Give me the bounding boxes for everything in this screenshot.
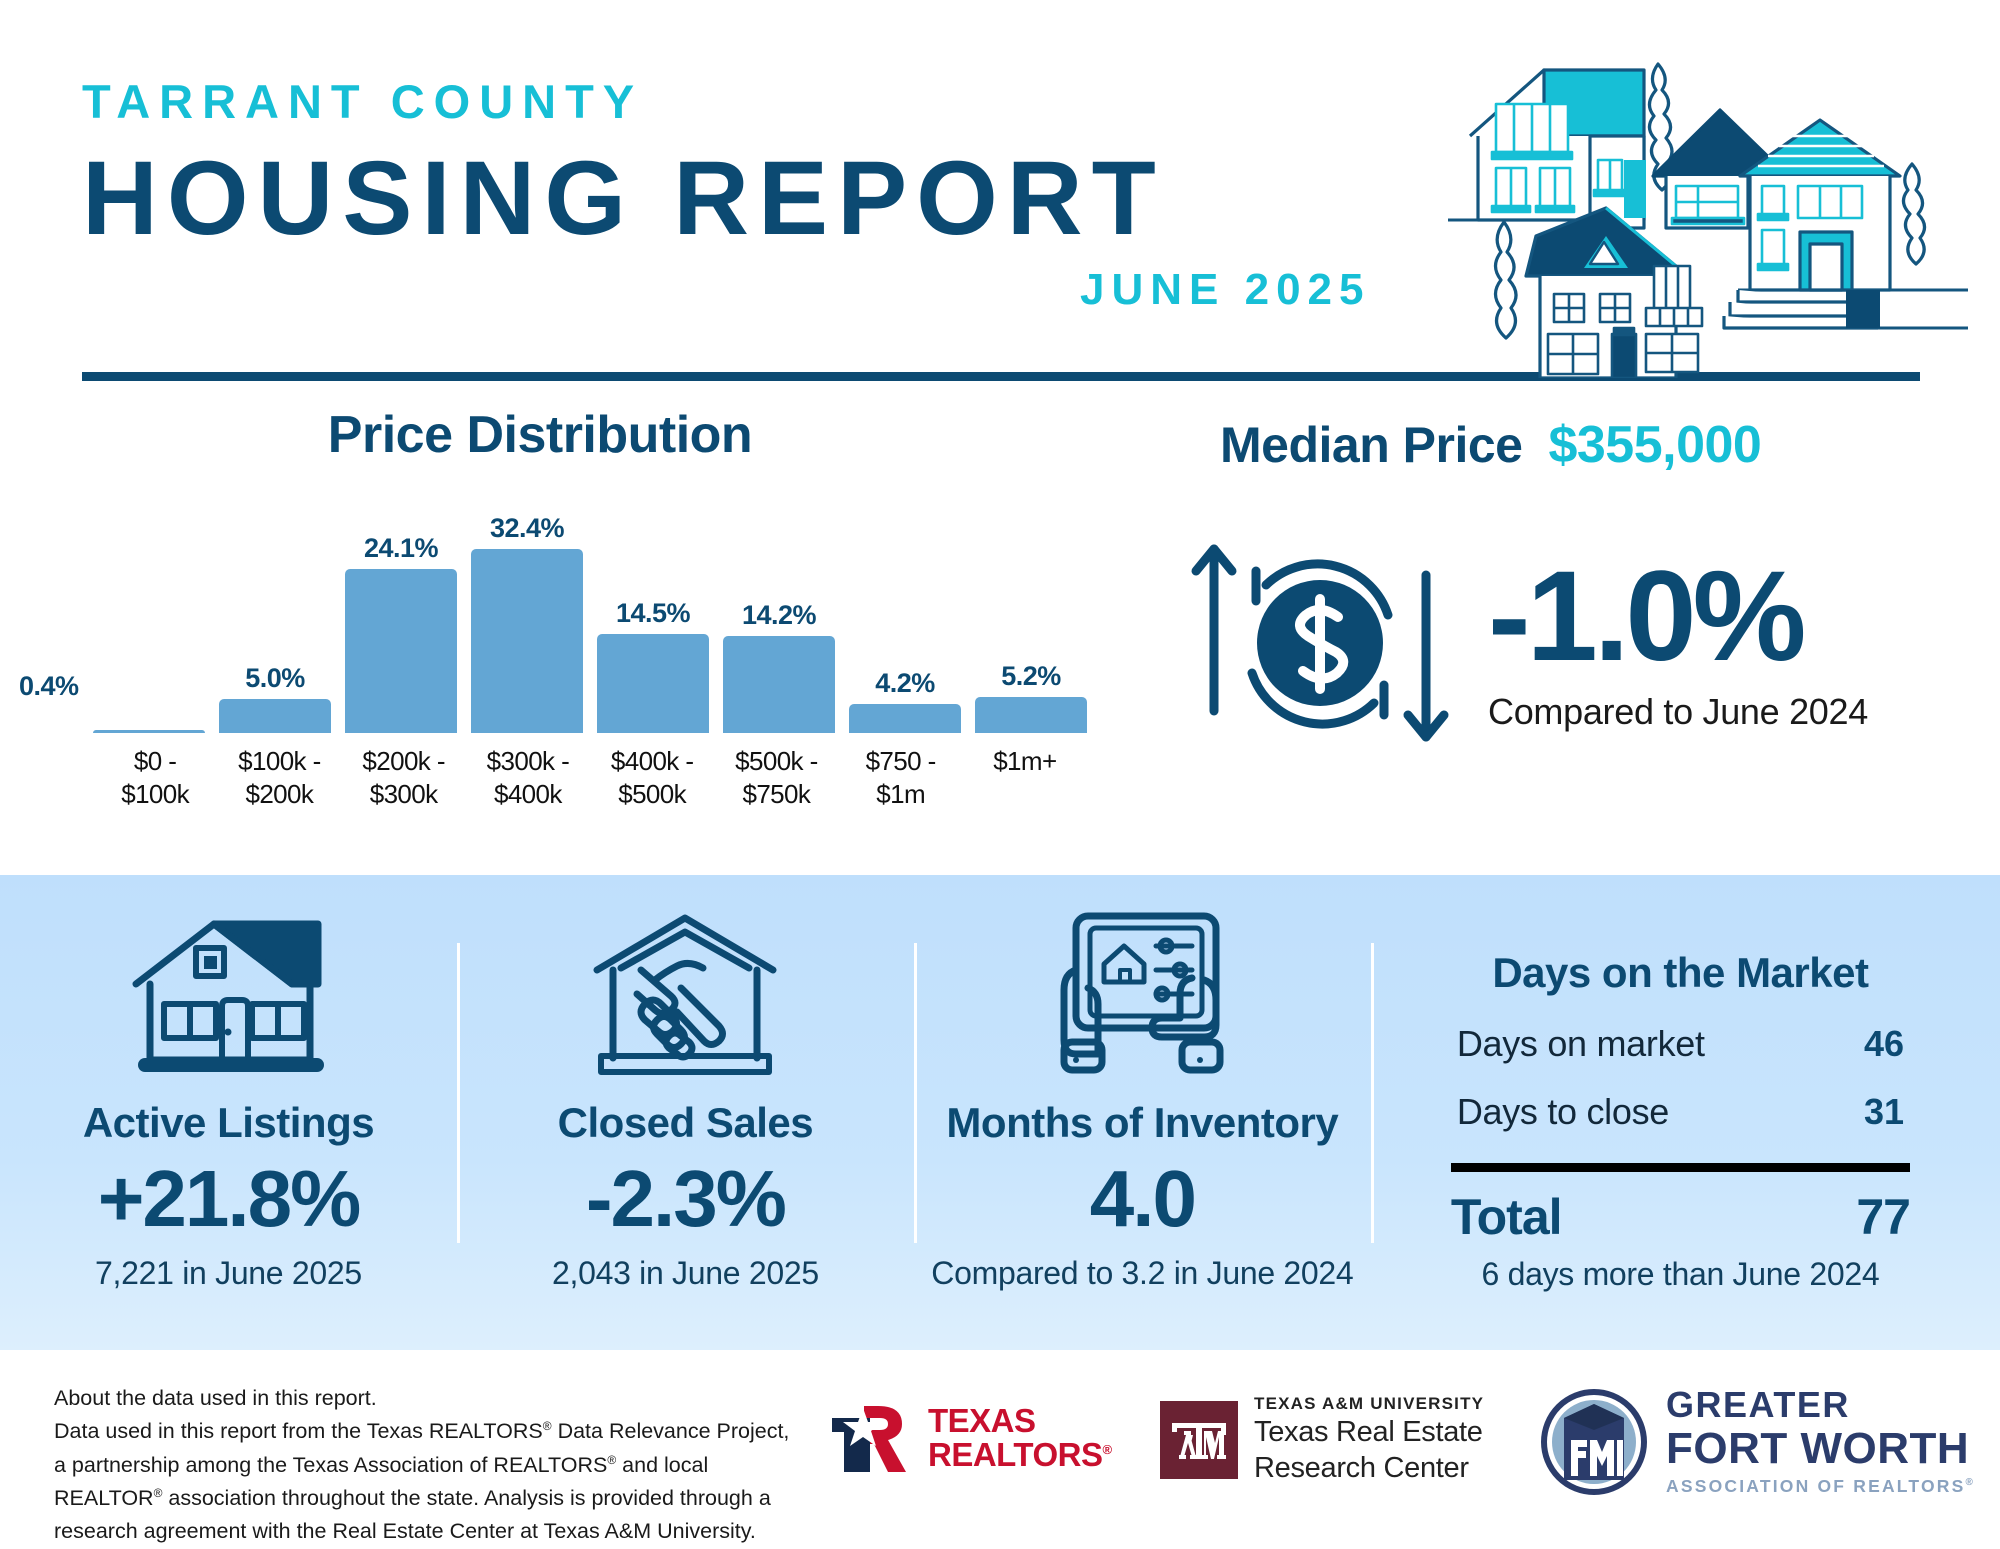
row-value: 31 bbox=[1864, 1091, 1904, 1133]
bar-column: 5.2% bbox=[975, 513, 1087, 733]
total-label: Total bbox=[1451, 1188, 1562, 1246]
bar-rect bbox=[471, 549, 583, 733]
median-price-value: $355,000 bbox=[1548, 415, 1761, 475]
price-distribution-chart: Price Distribution 0.4% 5.0% 24.1% 32.4%… bbox=[0, 405, 1110, 810]
stat-months-of-inventory: Months of Inventory 4.0 Compared to 3.2 … bbox=[914, 875, 1371, 1350]
stat-active-listings: Active Listings +21.8% 7,221 in June 202… bbox=[0, 875, 457, 1350]
median-price-section: Median Price $355,000 bbox=[1140, 415, 1990, 793]
median-price-label: Median Price bbox=[1220, 416, 1522, 474]
texas-realtors-mark bbox=[830, 1402, 916, 1474]
bar-column: 5.0% bbox=[219, 513, 331, 733]
axis-label: $1m+ bbox=[970, 745, 1080, 810]
axis-label: $0 - $100k bbox=[100, 745, 210, 810]
bar-column: 0.4% bbox=[93, 513, 205, 733]
tamu-research-center-logo: TEXAS A&M UNIVERSITY Texas Real Estate R… bbox=[1160, 1394, 1484, 1487]
axis-label: $500k - $750k bbox=[721, 745, 831, 810]
median-change-compare: Compared to June 2024 bbox=[1488, 691, 1868, 733]
stat-divider bbox=[1371, 943, 1374, 1243]
stat-closed-sales: Closed Sales -2.3% 2,043 in June 2025 bbox=[457, 875, 914, 1350]
bar-column: 24.1% bbox=[345, 513, 457, 733]
bar-value-label: 14.5% bbox=[616, 598, 690, 629]
stat-subtext: 2,043 in June 2025 bbox=[457, 1255, 914, 1292]
stat-subtext: Compared to 3.2 in June 2024 bbox=[914, 1255, 1371, 1292]
housing-report-infographic: TARRANT COUNTY HOUSING REPORT JUNE 2025 bbox=[0, 0, 2000, 1545]
row-value: 46 bbox=[1864, 1023, 1904, 1065]
texas-realtors-wordmark: TEXAS REALTORS® bbox=[928, 1404, 1112, 1471]
tamu-mark bbox=[1160, 1401, 1238, 1479]
median-price-header: Median Price $355,000 bbox=[1140, 415, 1990, 475]
header-text-block: TARRANT COUNTY HOUSING REPORT bbox=[82, 78, 1165, 260]
bar-rect bbox=[219, 699, 331, 733]
total-row: Total 77 bbox=[1451, 1188, 1910, 1246]
stat-title: Active Listings bbox=[0, 1099, 457, 1147]
bar-rect bbox=[93, 730, 205, 733]
chart-title: Price Distribution bbox=[0, 405, 1110, 465]
greater-fort-worth-logo: GREATER FORT WORTH ASSOCIATION OF REALTO… bbox=[1540, 1386, 1975, 1497]
bar-value-label: 0.4% bbox=[19, 671, 79, 702]
handshake-house-icon bbox=[457, 903, 914, 1093]
chart-plot-area: 0.4% 5.0% 24.1% 32.4% 14.5% 14.2% bbox=[0, 513, 1110, 733]
total-note: 6 days more than June 2024 bbox=[1411, 1256, 1950, 1293]
header: TARRANT COUNTY HOUSING REPORT JUNE 2025 bbox=[0, 0, 2000, 395]
days-on-market-panel: Days on the Market Days on market 46 Day… bbox=[1371, 875, 2000, 1350]
houses-illustration bbox=[1448, 28, 1968, 378]
data-disclaimer: About the data used in this report. Data… bbox=[54, 1382, 794, 1549]
bar-rect bbox=[849, 704, 961, 733]
bar-column: 14.2% bbox=[723, 513, 835, 733]
county-kicker: TARRANT COUNTY bbox=[82, 78, 1165, 125]
stat-subtext: 7,221 in June 2025 bbox=[0, 1255, 457, 1292]
tamu-kicker: TEXAS A&M UNIVERSITY bbox=[1254, 1394, 1484, 1414]
median-change-block: -1.0% Compared to June 2024 bbox=[1488, 553, 1868, 733]
stat-title: Closed Sales bbox=[457, 1099, 914, 1147]
gfw-line1: GREATER bbox=[1666, 1386, 1975, 1425]
tamu-line1: Texas Real Estate bbox=[1254, 1414, 1484, 1450]
bar-rect bbox=[975, 697, 1087, 733]
total-divider bbox=[1451, 1163, 1910, 1172]
house-icon bbox=[0, 903, 457, 1093]
stat-title: Months of Inventory bbox=[914, 1099, 1371, 1147]
bar-value-label: 5.0% bbox=[245, 663, 305, 694]
bar-column: 14.5% bbox=[597, 513, 709, 733]
bar-value-label: 32.4% bbox=[490, 513, 564, 544]
gfw-mark bbox=[1540, 1388, 1648, 1496]
bar-rect bbox=[597, 634, 709, 733]
stat-divider bbox=[914, 943, 917, 1243]
bar-value-label: 4.2% bbox=[875, 668, 935, 699]
gfw-line3: ASSOCIATION OF REALTORS® bbox=[1666, 1476, 1975, 1497]
median-price-body: -1.0% Compared to June 2024 bbox=[1140, 493, 1990, 793]
days-on-market-title: Days on the Market bbox=[1411, 949, 1950, 997]
total-value: 77 bbox=[1856, 1188, 1910, 1246]
row-label: Days to close bbox=[1457, 1091, 1669, 1133]
bar-value-label: 5.2% bbox=[1001, 661, 1061, 692]
tablet-hand-icon bbox=[914, 903, 1371, 1093]
tamu-wordmark: TEXAS A&M UNIVERSITY Texas Real Estate R… bbox=[1254, 1394, 1484, 1487]
partner-logos: TEXAS REALTORS® bbox=[820, 1372, 1980, 1522]
axis-label: $200k - $300k bbox=[349, 745, 459, 810]
stat-value: -2.3% bbox=[457, 1153, 914, 1245]
gfw-line2: FORT WORTH bbox=[1666, 1425, 1975, 1473]
disclaimer-body: Data used in this report from the Texas … bbox=[54, 1415, 794, 1548]
disclaimer-heading: About the data used in this report. bbox=[54, 1382, 794, 1415]
stat-value: 4.0 bbox=[914, 1153, 1371, 1245]
bar-value-label: 14.2% bbox=[742, 600, 816, 631]
tamu-line2: Research Center bbox=[1254, 1450, 1484, 1486]
texas-realtors-logo: TEXAS REALTORS® bbox=[830, 1402, 1112, 1474]
bar-rect bbox=[345, 569, 457, 733]
bar-rect bbox=[723, 636, 835, 733]
bar-column: 32.4% bbox=[471, 513, 583, 733]
stat-value: +21.8% bbox=[0, 1153, 457, 1245]
axis-label: $750 - $1m bbox=[846, 745, 956, 810]
bar-column: 4.2% bbox=[849, 513, 961, 733]
days-on-market-row: Days on market 46 bbox=[1457, 1023, 1904, 1065]
stats-band: Active Listings +21.8% 7,221 in June 202… bbox=[0, 875, 2000, 1350]
axis-label: $400k - $500k bbox=[597, 745, 707, 810]
footer: About the data used in this report. Data… bbox=[0, 1350, 2000, 1545]
page-title: HOUSING REPORT bbox=[82, 139, 1165, 260]
axis-label: $100k - $200k bbox=[224, 745, 334, 810]
days-to-close-row: Days to close 31 bbox=[1457, 1091, 1904, 1133]
dollar-circle-arrows-icon bbox=[1170, 493, 1470, 793]
report-month: JUNE 2025 bbox=[1080, 265, 1370, 315]
median-change-value: -1.0% bbox=[1488, 553, 1868, 681]
chart-axis-labels: $0 - $100k $100k - $200k $200k - $300k $… bbox=[0, 745, 1110, 810]
axis-label: $300k - $400k bbox=[473, 745, 583, 810]
gfw-wordmark: GREATER FORT WORTH ASSOCIATION OF REALTO… bbox=[1666, 1386, 1975, 1497]
row-label: Days on market bbox=[1457, 1023, 1705, 1065]
stat-divider bbox=[457, 943, 460, 1243]
bar-value-label: 24.1% bbox=[364, 533, 438, 564]
